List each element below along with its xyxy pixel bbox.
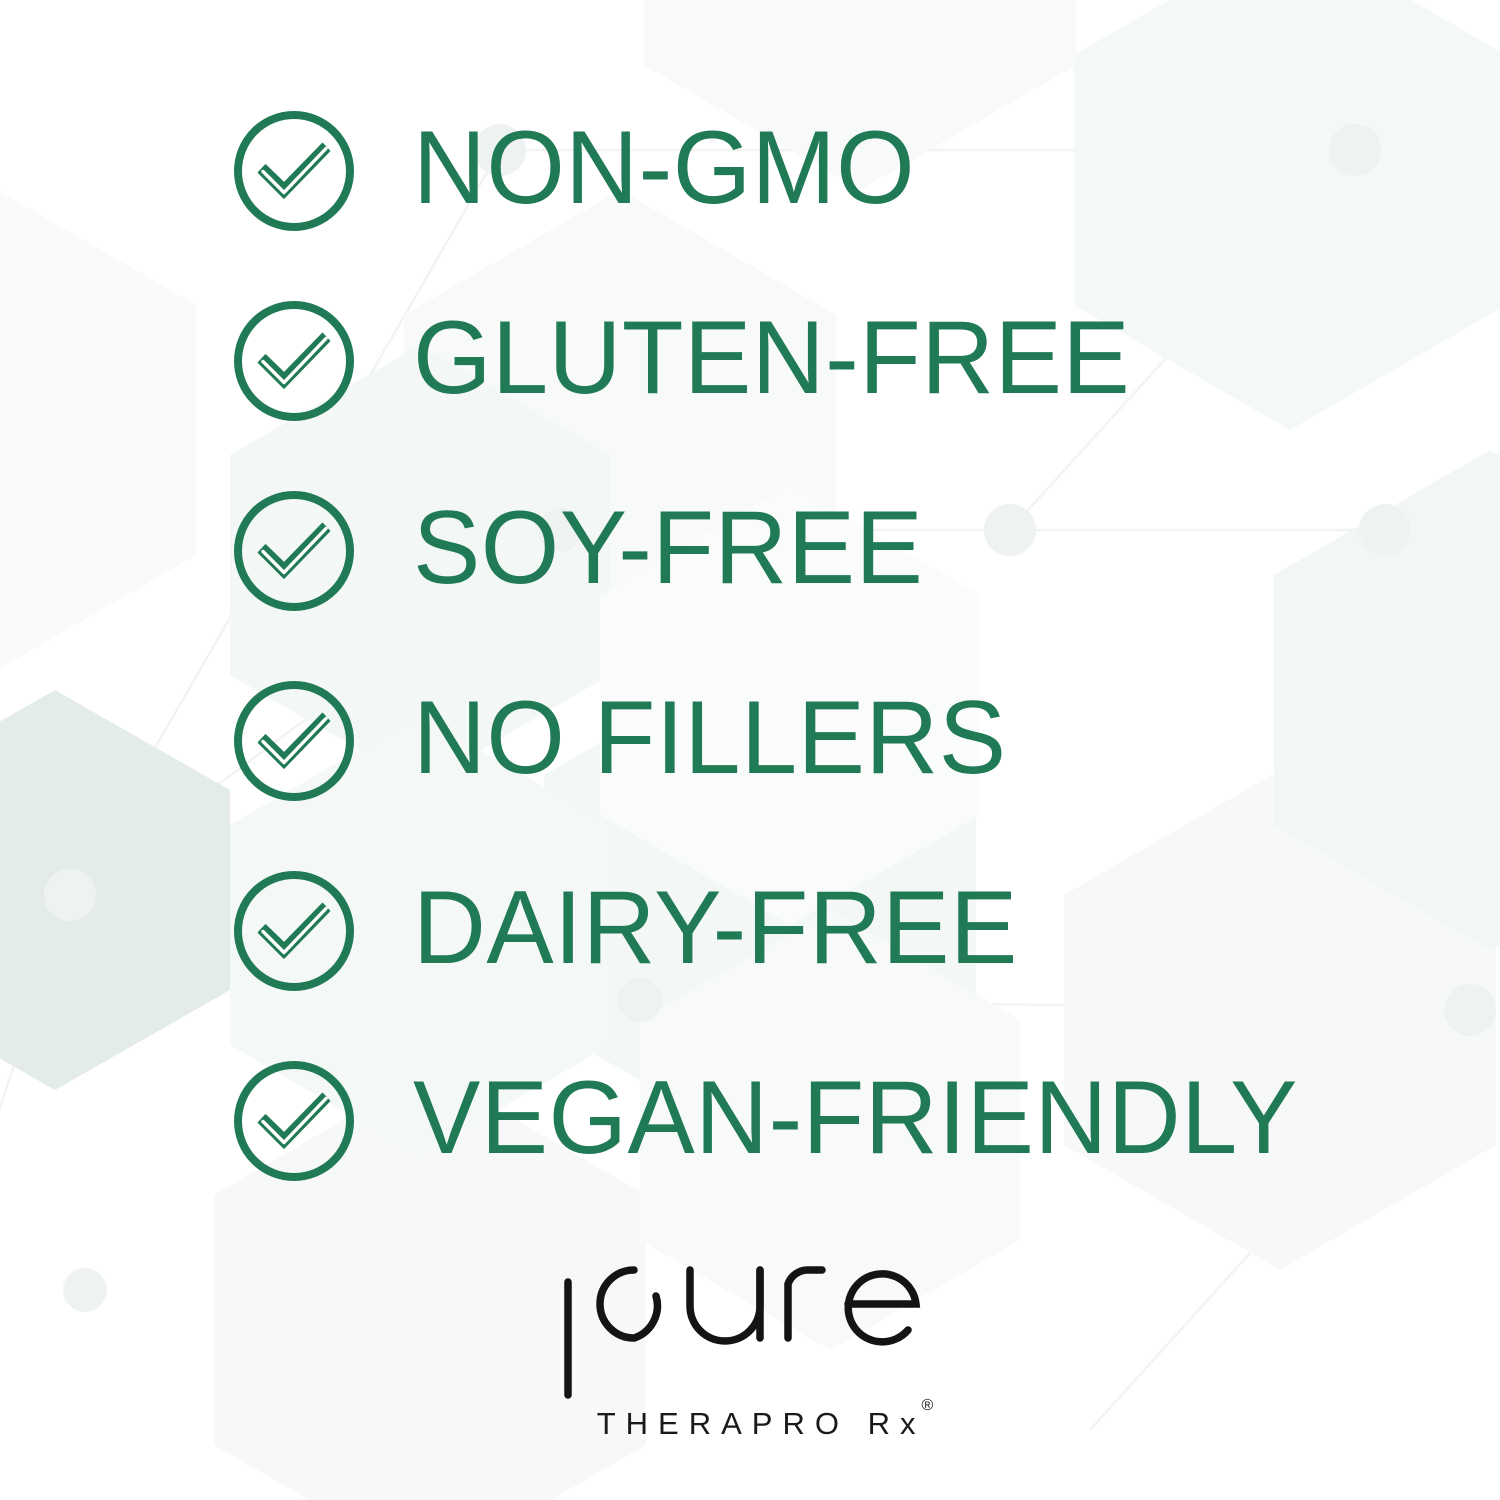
claim-label: NO FILLERS (413, 686, 1006, 790)
promo-graphic: NON-GMO GLUTEN-FREE SOY-FREE (0, 0, 1500, 1500)
brand-tagline: THERAPRO Rx® (597, 1408, 938, 1439)
claim-row-vegan-friendly: VEGAN-FRIENDLY (233, 1060, 1473, 1182)
check-circle-icon (233, 1060, 355, 1182)
claims-list: NON-GMO GLUTEN-FREE SOY-FREE (233, 110, 1473, 1182)
check-circle-icon (233, 490, 355, 612)
brand-tagline-text: THERAPRO Rx (597, 1408, 926, 1439)
claim-label: SOY-FREE (413, 496, 923, 600)
claim-row-non-gmo: NON-GMO (233, 110, 1473, 232)
brand-logo: THERAPRO Rx® (0, 1250, 1500, 1439)
pure-wordmark-logo (550, 1250, 950, 1400)
check-circle-icon (233, 300, 355, 422)
claim-label: DAIRY-FREE (413, 876, 1018, 980)
claim-label: NON-GMO (413, 116, 915, 220)
check-circle-icon (233, 870, 355, 992)
registered-trademark-icon: ® (921, 1398, 933, 1414)
check-circle-icon (233, 110, 355, 232)
claim-row-dairy-free: DAIRY-FREE (233, 870, 1473, 992)
check-circle-icon (233, 680, 355, 802)
claim-row-no-fillers: NO FILLERS (233, 680, 1473, 802)
claim-label: VEGAN-FRIENDLY (413, 1066, 1298, 1170)
claim-row-gluten-free: GLUTEN-FREE (233, 300, 1473, 422)
claim-label: GLUTEN-FREE (413, 306, 1130, 410)
claim-row-soy-free: SOY-FREE (233, 490, 1473, 612)
